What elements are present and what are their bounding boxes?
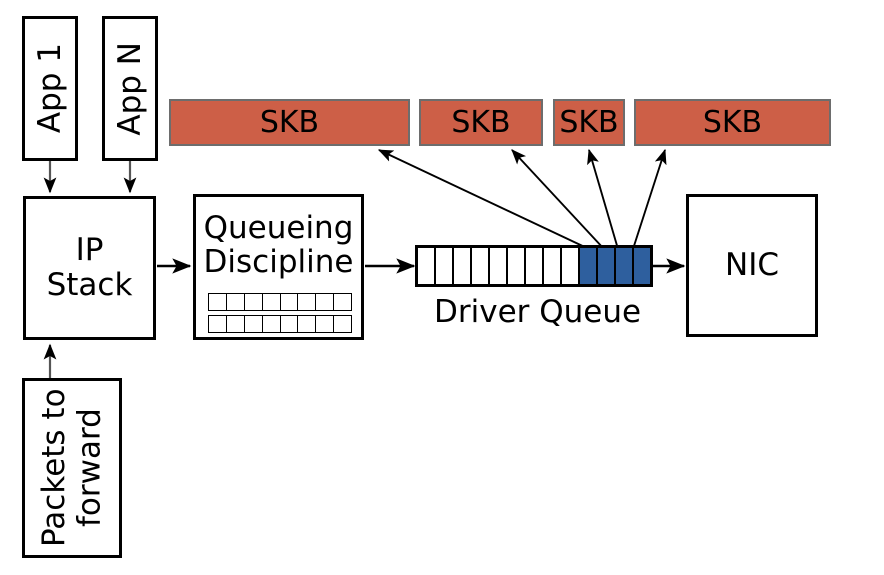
qdisc-grid-row-1 [208,293,352,311]
driver-queue-slot-empty [562,248,580,284]
appn-label: App N [113,42,148,136]
arrow-slot1-to-skb-1 [379,150,589,249]
qdisc-cell [281,316,299,332]
driver-queue-slot-filled [634,248,650,284]
qdisc-cell [245,316,263,332]
qdisc-cell [334,316,351,332]
nic-box: NIC [686,194,818,337]
driver-queue-slot-empty [526,248,544,284]
app1-label: App 1 [33,43,68,133]
app1-box: App 1 [22,16,78,161]
driver-queue-slot-empty [508,248,526,284]
queueing-discipline-box: Queueing Discipline [193,194,364,340]
packets-to-forward-label: Packets to forward [37,381,108,555]
skb-label-3: SKB [559,105,618,140]
ip-stack-box: IP Stack [23,196,156,340]
qdisc-cell [227,316,245,332]
ip-stack-label: IP Stack [47,233,133,304]
skb-label-2: SKB [451,105,510,140]
arrow-slot3-to-skb-3 [589,150,618,249]
arrow-slot4-to-skb-4 [633,150,665,249]
arrow-slot2-to-skb-2 [512,150,604,249]
qdisc-cell [316,316,334,332]
diagram-canvas: App 1 App N SKB SKB SKB SKB IP Stack Que… [0,0,884,575]
skb-box-4: SKB [634,99,831,146]
skb-box-2: SKB [419,99,543,146]
driver-queue-slot-filled [616,248,634,284]
qdisc-cell [298,316,316,332]
driver-queue [415,245,653,287]
qdisc-cell [245,294,263,310]
driver-queue-slot-empty [544,248,562,284]
qdisc-grid-row-2 [208,315,352,333]
driver-queue-slot-empty [418,248,436,284]
qdisc-cell [263,316,281,332]
driver-queue-slot-empty [472,248,490,284]
skb-label-1: SKB [260,105,319,140]
qdisc-cell [334,294,351,310]
driver-queue-slot-filled [580,248,598,284]
qdisc-cell [209,316,227,332]
qdisc-cell [281,294,299,310]
driver-queue-slot-filled [598,248,616,284]
packets-to-forward-box: Packets to forward [22,378,122,558]
nic-label: NIC [725,248,779,283]
qdisc-cell [263,294,281,310]
driver-queue-slot-empty [490,248,508,284]
driver-queue-label: Driver Queue [434,294,641,330]
qdisc-cell [316,294,334,310]
skb-box-1: SKB [169,99,410,146]
qdisc-cell [298,294,316,310]
qdisc-cell [227,294,245,310]
driver-queue-slot-empty [436,248,454,284]
skb-label-4: SKB [703,105,762,140]
skb-box-3: SKB [553,99,625,146]
driver-queue-slot-empty [454,248,472,284]
qdisc-cell [209,294,227,310]
appn-box: App N [102,16,158,161]
queueing-discipline-label: Queueing Discipline [196,211,361,279]
